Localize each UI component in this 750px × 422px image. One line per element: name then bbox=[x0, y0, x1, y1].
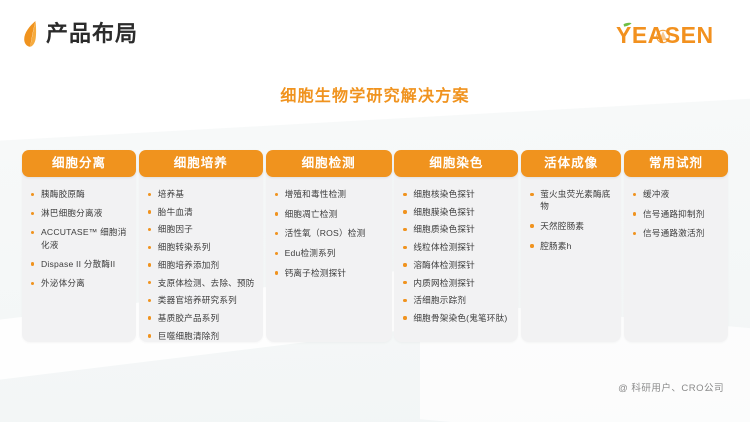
list-item-label: 内质网检测探针 bbox=[413, 278, 475, 288]
list-item-label: 细胞培养添加剂 bbox=[158, 260, 220, 270]
card-title: 细胞培养 bbox=[139, 150, 263, 177]
bullet-dot bbox=[148, 299, 151, 302]
bullet-dot bbox=[148, 246, 151, 249]
bullet-dot bbox=[31, 282, 34, 285]
list-item-label: 胰酶胶原酶 bbox=[41, 189, 85, 199]
list-item-label: 类器官培养研究系列 bbox=[158, 295, 237, 305]
bullet-dot bbox=[275, 252, 278, 255]
top-bar: 产品布局 YEASEN bbox=[0, 0, 750, 62]
list-item-label: 信号通路抑制剂 bbox=[643, 209, 705, 219]
list-item-label: 细胞因子 bbox=[158, 224, 193, 234]
list-item: 胰酶胶原酶 bbox=[28, 188, 130, 200]
list-item-label: ACCUTASE™ 细胞消化液 bbox=[41, 227, 127, 249]
list-item-label: 淋巴细胞分离液 bbox=[41, 208, 103, 218]
list-item: 活性氧（ROS）检测 bbox=[272, 227, 386, 239]
bullet-dot bbox=[633, 212, 636, 215]
list-item: 增殖和毒性检测 bbox=[272, 188, 386, 200]
bullet-dot bbox=[275, 212, 278, 215]
list-item: 外泌体分离 bbox=[28, 277, 130, 289]
leaf-icon bbox=[22, 20, 38, 48]
list-item-label: 腔肠素h bbox=[540, 241, 571, 251]
list-item: 天然腔肠素 bbox=[527, 220, 615, 232]
card-in-vivo-imaging[interactable]: 活体成像 萤火虫荧光素酶底物 天然腔肠素 腔肠素h bbox=[521, 150, 621, 342]
list-item-label: 培养基 bbox=[158, 189, 184, 199]
bullet-dot bbox=[403, 299, 406, 302]
bullet-dot bbox=[148, 228, 151, 231]
list-item: 内质网检测探针 bbox=[400, 277, 512, 289]
list-item-label: 萤火虫荧光素酶底物 bbox=[540, 189, 610, 211]
card-title: 常用试剂 bbox=[624, 150, 728, 177]
list-item: Edu检测系列 bbox=[272, 247, 386, 259]
list-item: 细胞转染系列 bbox=[145, 241, 257, 253]
bullet-dot bbox=[148, 210, 151, 213]
card-title: 活体成像 bbox=[521, 150, 621, 177]
list-item: Dispase II 分散酶II bbox=[28, 258, 130, 270]
list-item-label: 细胞核染色探针 bbox=[413, 189, 475, 199]
card-title: 细胞染色 bbox=[394, 150, 518, 177]
card-item-list: 细胞核染色探针 细胞膜染色探针 细胞质染色探针 线粒体检测探针 bbox=[400, 188, 512, 324]
bullet-dot bbox=[148, 334, 151, 337]
footer-note: @ 科研用户、CRO公司 bbox=[618, 380, 724, 394]
card-body: 缓冲液 信号通路抑制剂 信号通路激活剂 bbox=[624, 162, 728, 342]
list-item-label: 信号通路激活剂 bbox=[643, 228, 705, 238]
card-cell-staining[interactable]: 细胞染色 细胞核染色探针 细胞膜染色探针 细胞质染色探针 bbox=[394, 150, 518, 342]
list-item-label: 活性氧（ROS）检测 bbox=[285, 228, 366, 238]
card-common-reagents[interactable]: 常用试剂 缓冲液 信号通路抑制剂 信号通路激活剂 bbox=[624, 150, 728, 342]
list-item: 细胞因子 bbox=[145, 223, 257, 235]
card-cell-isolation[interactable]: 细胞分离 胰酶胶原酶 淋巴细胞分离液 ACCUTASE™ 细胞消化液 bbox=[22, 150, 136, 342]
page-title: 产品布局 bbox=[46, 23, 138, 45]
list-item-label: 巨噬细胞清除剂 bbox=[158, 331, 220, 341]
bullet-dot bbox=[633, 193, 636, 196]
card-item-list: 萤火虫荧光素酶底物 天然腔肠素 腔肠素h bbox=[527, 188, 615, 252]
bullet-dot bbox=[403, 210, 406, 213]
list-item-label: 细胞质染色探针 bbox=[413, 224, 475, 234]
list-item: 信号通路激活剂 bbox=[630, 227, 722, 239]
list-item: 胎牛血清 bbox=[145, 206, 257, 218]
bullet-dot bbox=[403, 193, 406, 196]
bullet-dot bbox=[31, 262, 34, 265]
list-item: 细胞质染色探针 bbox=[400, 223, 512, 235]
card-cell-detection[interactable]: 细胞检测 增殖和毒性检测 细胞凋亡检测 活性氧（ROS）检测 bbox=[266, 150, 392, 342]
list-item-label: 溶酶体检测探针 bbox=[413, 260, 475, 270]
bullet-dot bbox=[530, 193, 533, 196]
card-item-list: 增殖和毒性检测 细胞凋亡检测 活性氧（ROS）检测 Edu检测系列 bbox=[272, 188, 386, 279]
bullet-dot bbox=[403, 246, 406, 249]
bullet-dot bbox=[148, 316, 151, 319]
list-item-label: Edu检测系列 bbox=[285, 248, 336, 258]
bullet-dot bbox=[275, 193, 278, 196]
card-title: 细胞检测 bbox=[266, 150, 392, 177]
list-item-label: 活细胞示踪剂 bbox=[413, 295, 466, 305]
card-body: 增殖和毒性检测 细胞凋亡检测 活性氧（ROS）检测 Edu检测系列 bbox=[266, 162, 392, 342]
card-item-list: 胰酶胶原酶 淋巴细胞分离液 ACCUTASE™ 细胞消化液 Dispase II… bbox=[28, 188, 130, 289]
card-item-list: 培养基 胎牛血清 细胞因子 细胞转染系列 bbox=[145, 188, 257, 342]
bullet-dot bbox=[148, 193, 151, 196]
bullet-dot bbox=[148, 281, 151, 284]
bullet-dot bbox=[275, 232, 278, 235]
list-item: 基质胶产品系列 bbox=[145, 312, 257, 324]
list-item: 萤火虫荧光素酶底物 bbox=[527, 188, 615, 212]
yeasen-logo: YEASEN bbox=[616, 22, 728, 48]
list-item-label: 细胞凋亡检测 bbox=[285, 209, 338, 219]
bullet-dot bbox=[403, 316, 406, 319]
page-heading-group: 产品布局 bbox=[22, 20, 138, 48]
list-item: 细胞核染色探针 bbox=[400, 188, 512, 200]
list-item: 细胞骨架染色(鬼笔环肽) bbox=[400, 312, 512, 324]
list-item: 细胞凋亡检测 bbox=[272, 208, 386, 220]
bullet-dot bbox=[403, 281, 406, 284]
card-cell-culture[interactable]: 细胞培养 培养基 胎牛血清 细胞因子 bbox=[139, 150, 263, 342]
svg-text:YEASEN: YEASEN bbox=[616, 22, 714, 48]
list-item-label: 细胞转染系列 bbox=[158, 242, 211, 252]
bullet-dot bbox=[530, 244, 533, 247]
list-item: 线粒体检测探针 bbox=[400, 241, 512, 253]
list-item: 细胞膜染色探针 bbox=[400, 206, 512, 218]
list-item: 细胞培养添加剂 bbox=[145, 259, 257, 271]
list-item-label: 基质胶产品系列 bbox=[158, 313, 220, 323]
list-item-label: 支原体检测、去除、预防 bbox=[158, 278, 255, 288]
list-item: 巨噬细胞清除剂 bbox=[145, 330, 257, 342]
list-item-label: Dispase II 分散酶II bbox=[41, 259, 115, 269]
card-body: 萤火虫荧光素酶底物 天然腔肠素 腔肠素h bbox=[521, 162, 621, 342]
list-item: 类器官培养研究系列 bbox=[145, 294, 257, 306]
list-item: 钙离子检测探针 bbox=[272, 267, 386, 279]
list-item: 溶酶体检测探针 bbox=[400, 259, 512, 271]
bullet-dot bbox=[403, 263, 406, 266]
list-item-label: 细胞膜染色探针 bbox=[413, 207, 475, 217]
list-item: 支原体检测、去除、预防 bbox=[145, 277, 257, 289]
bullet-dot bbox=[148, 263, 151, 266]
list-item: 缓冲液 bbox=[630, 188, 722, 200]
card-body: 细胞核染色探针 细胞膜染色探针 细胞质染色探针 线粒体检测探针 bbox=[394, 162, 518, 342]
list-item-label: 线粒体检测探针 bbox=[413, 242, 475, 252]
bullet-dot bbox=[633, 232, 636, 235]
list-item: 淋巴细胞分离液 bbox=[28, 207, 130, 219]
slide-root: 产品布局 YEASEN 细胞生物学研究解决方案 细胞分离 胰酶胶原酶 bbox=[0, 0, 750, 422]
card-item-list: 缓冲液 信号通路抑制剂 信号通路激活剂 bbox=[630, 188, 722, 240]
bullet-dot bbox=[530, 224, 533, 227]
list-item: ACCUTASE™ 细胞消化液 bbox=[28, 226, 130, 250]
list-item-label: 天然腔肠素 bbox=[540, 221, 584, 231]
list-item-label: 外泌体分离 bbox=[41, 278, 85, 288]
cards-row: 细胞分离 胰酶胶原酶 淋巴细胞分离液 ACCUTASE™ 细胞消化液 bbox=[22, 150, 728, 342]
section-title: 细胞生物学研究解决方案 bbox=[0, 82, 750, 106]
list-item-label: 细胞骨架染色(鬼笔环肽) bbox=[413, 313, 507, 323]
list-item: 信号通路抑制剂 bbox=[630, 208, 722, 220]
bullet-dot bbox=[275, 271, 278, 274]
list-item-label: 增殖和毒性检测 bbox=[285, 189, 347, 199]
list-item-label: 胎牛血清 bbox=[158, 207, 193, 217]
card-title: 细胞分离 bbox=[22, 150, 136, 177]
list-item-label: 缓冲液 bbox=[643, 189, 669, 199]
list-item: 培养基 bbox=[145, 188, 257, 200]
list-item: 腔肠素h bbox=[527, 240, 615, 252]
bullet-dot bbox=[31, 231, 34, 234]
list-item: 活细胞示踪剂 bbox=[400, 294, 512, 306]
bullet-dot bbox=[403, 228, 406, 231]
list-item-label: 钙离子检测探针 bbox=[285, 268, 347, 278]
bullet-dot bbox=[31, 212, 34, 215]
card-body: 胰酶胶原酶 淋巴细胞分离液 ACCUTASE™ 细胞消化液 Dispase II… bbox=[22, 162, 136, 342]
card-body: 培养基 胎牛血清 细胞因子 细胞转染系列 bbox=[139, 162, 263, 342]
bullet-dot bbox=[31, 193, 34, 196]
